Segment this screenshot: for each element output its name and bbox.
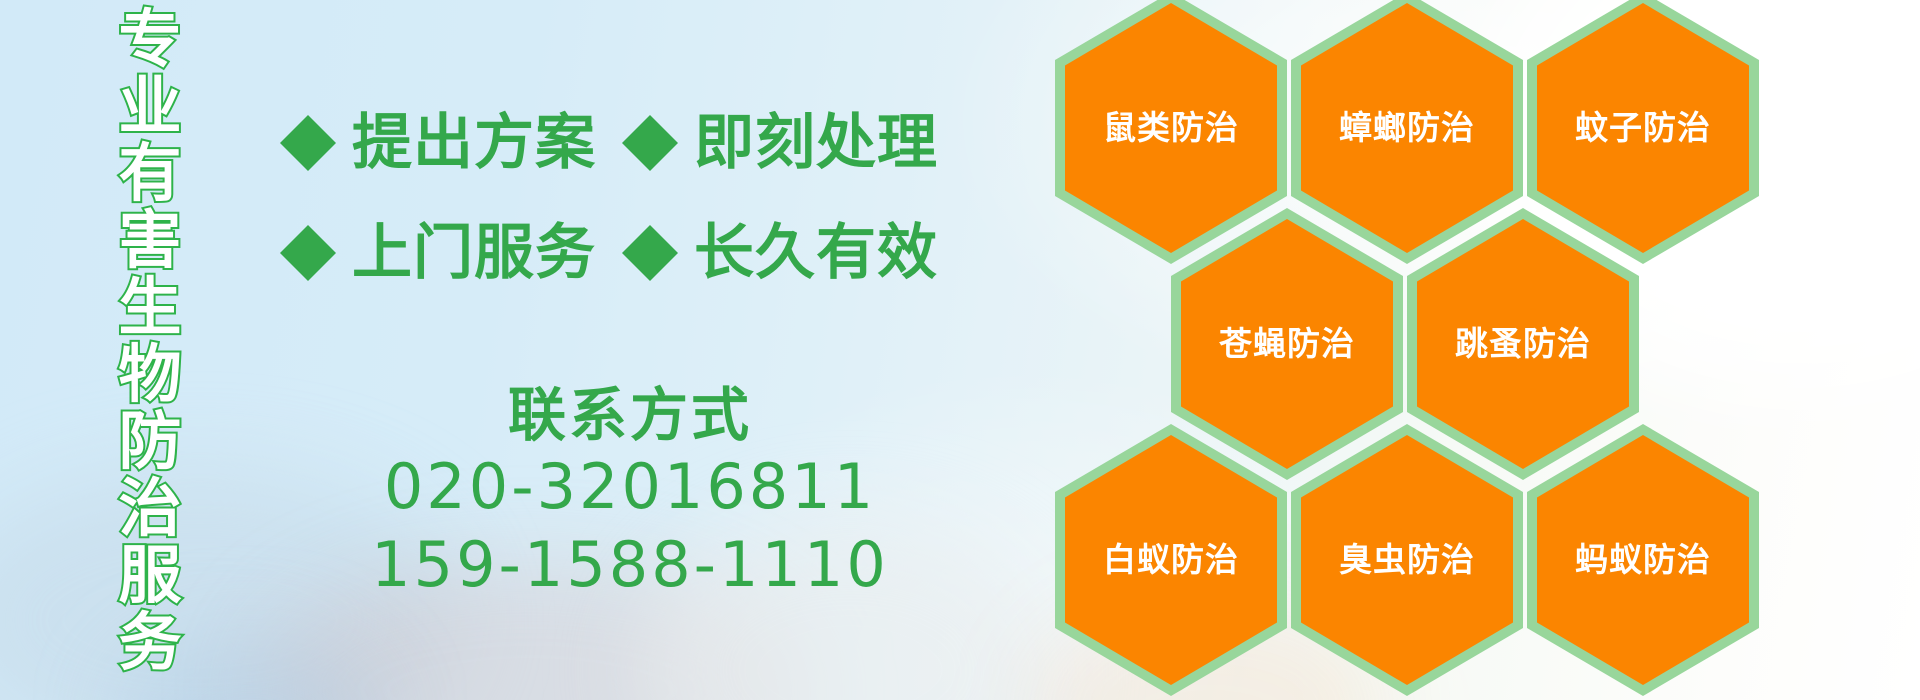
feature-item: 即刻处理	[622, 113, 938, 173]
honeycomb-row: 白蚁防治 臭虫防治 蚂蚁防治	[1055, 424, 1763, 696]
diamond-icon	[622, 87, 678, 143]
vertical-headline-char: 有	[119, 140, 182, 207]
diamond-icon	[622, 197, 678, 253]
feature-label: 上门服务	[352, 223, 596, 283]
contact-block: 联系方式 020-32016811 159-1588-1110	[330, 382, 930, 604]
vertical-headline-char: 治	[119, 475, 182, 542]
feature-list: 提出方案 即刻处理 上门服务 长久有效	[280, 88, 880, 308]
contact-heading: 联系方式	[330, 382, 930, 448]
vertical-headline-char: 生	[119, 274, 182, 341]
feature-row: 提出方案 即刻处理	[280, 88, 880, 198]
service-label: 臭虫防治	[1339, 542, 1475, 578]
feature-item: 提出方案	[280, 113, 596, 173]
vertical-headline-char: 务	[119, 609, 182, 676]
vertical-headline-char: 害	[119, 207, 182, 274]
service-label: 跳蚤防治	[1455, 326, 1591, 362]
service-label: 白蚁防治	[1103, 542, 1239, 578]
service-honeycomb: 鼠类防治 蟑螂防治 蚊子防治 苍蝇防治	[1055, 0, 1675, 700]
diamond-icon	[280, 87, 336, 143]
feature-label: 提出方案	[352, 113, 596, 173]
vertical-headline-char: 防	[119, 408, 182, 475]
promo-banner: 专 业 有 害 生 物 防 治 服 务 提出方案 即刻处理 上门服务	[0, 0, 1920, 700]
phone-number-landline[interactable]: 020-32016811	[330, 448, 930, 526]
feature-item: 上门服务	[280, 223, 596, 283]
service-hexagon-ant[interactable]: 蚂蚁防治	[1527, 424, 1759, 696]
service-hexagon-termite[interactable]: 白蚁防治	[1055, 424, 1287, 696]
service-label: 苍蝇防治	[1219, 326, 1355, 362]
vertical-headline: 专 业 有 害 生 物 防 治 服 务	[104, 6, 196, 566]
diamond-icon	[280, 197, 336, 253]
feature-label: 长久有效	[694, 223, 938, 283]
service-label: 蟑螂防治	[1339, 110, 1475, 146]
service-hexagon-bedbug[interactable]: 臭虫防治	[1291, 424, 1523, 696]
phone-number-mobile[interactable]: 159-1588-1110	[330, 526, 930, 604]
feature-label: 即刻处理	[694, 113, 938, 173]
service-label: 蚊子防治	[1575, 110, 1711, 146]
vertical-headline-char: 业	[119, 73, 182, 140]
service-label: 鼠类防治	[1103, 110, 1239, 146]
feature-item: 长久有效	[622, 223, 938, 283]
vertical-headline-char: 服	[119, 542, 182, 609]
feature-row: 上门服务 长久有效	[280, 198, 880, 308]
vertical-headline-char: 专	[119, 6, 182, 73]
service-label: 蚂蚁防治	[1575, 542, 1711, 578]
vertical-headline-char: 物	[119, 341, 182, 408]
